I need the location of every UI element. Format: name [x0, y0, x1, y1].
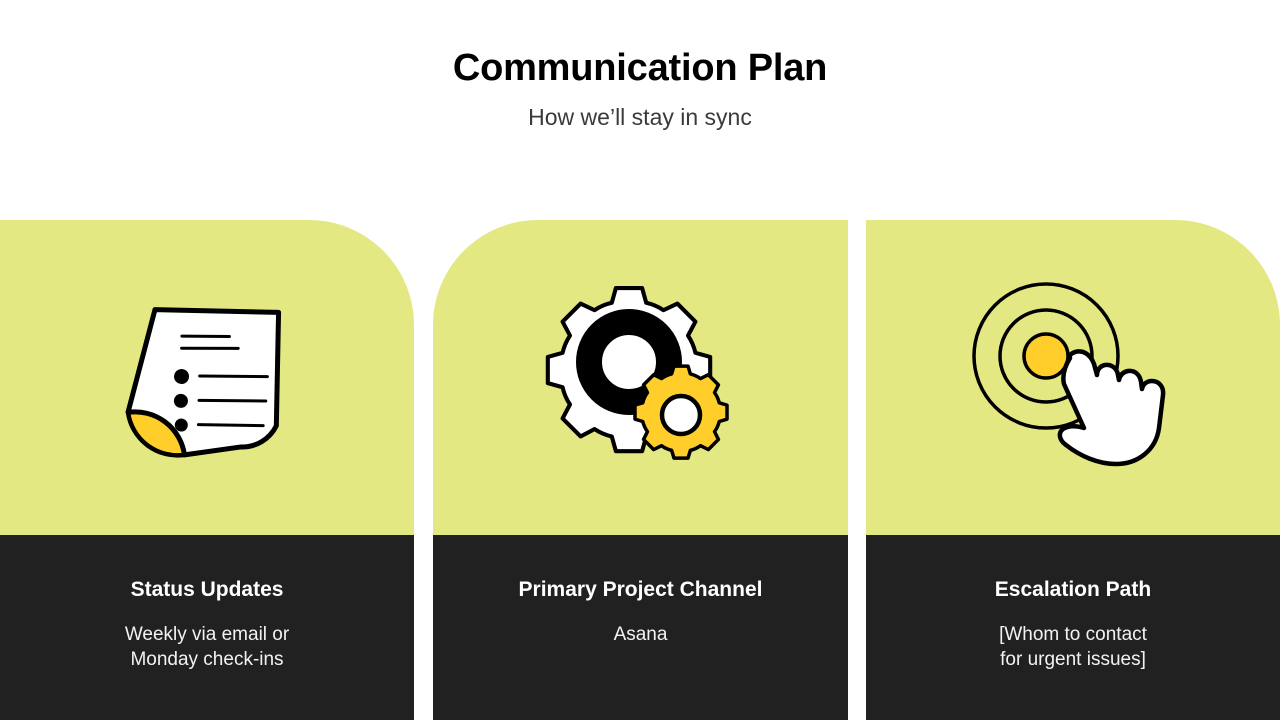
card-title: Primary Project Channel	[433, 577, 848, 603]
cards-row: Status Updates Weekly via email or Monda…	[0, 220, 1280, 720]
slide-canvas: Communication Plan How we’ll stay in syn…	[0, 0, 1280, 720]
card-body-2: Primary Project Channel Asana	[433, 535, 848, 720]
target-hand-pointer-icon	[966, 278, 1181, 478]
card-title: Status Updates	[0, 577, 414, 603]
page-title: Communication Plan	[0, 0, 1280, 92]
card-escalation-path[interactable]: Escalation Path [Whom to contact for urg…	[866, 220, 1280, 720]
gears-icon	[541, 280, 741, 475]
card-title: Escalation Path	[866, 577, 1280, 603]
page-subtitle: How we’ll stay in sync	[0, 92, 1280, 132]
slide-header: Communication Plan How we’ll stay in syn…	[0, 0, 1280, 210]
card-status-updates[interactable]: Status Updates Weekly via email or Monda…	[0, 220, 414, 720]
card-media-1	[0, 220, 414, 535]
card-body-1: Status Updates Weekly via email or Monda…	[0, 535, 414, 720]
card-media-2	[433, 220, 848, 535]
card-description: Weekly via email or Monday check-ins	[0, 603, 414, 672]
card-description: [Whom to contact for urgent issues]	[866, 603, 1280, 672]
card-description: Asana	[433, 603, 848, 647]
card-media-3	[866, 220, 1280, 535]
card-body-3: Escalation Path [Whom to contact for urg…	[866, 535, 1280, 720]
card-primary-project-channel[interactable]: Primary Project Channel Asana	[433, 220, 848, 720]
document-checklist-icon	[102, 283, 312, 473]
